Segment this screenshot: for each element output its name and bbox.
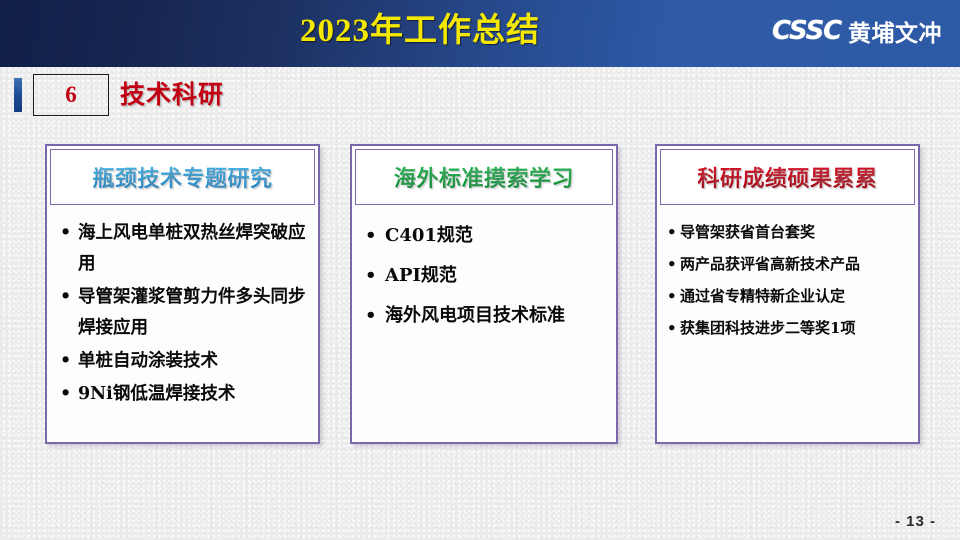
card-title-box: 瓶颈技术专题研究 [50, 149, 315, 205]
content-card-row: 瓶颈技术专题研究 海上风电单桩双热丝焊突破应用 导管架灌浆管剪力件多头同步焊接应… [0, 144, 960, 454]
content-card-overseas-standards: 海外标准摸索学习 C401规范 API规范 海外风电项目技术标准 [350, 144, 618, 444]
section-accent-bar [14, 78, 22, 112]
card-title: 科研成绩硕果累累 [697, 161, 877, 193]
list-item: 两产品获评省高新技术产品 [667, 250, 909, 279]
list-item: 9Ni钢低温焊接技术 [60, 379, 309, 410]
list-item: 通过省专精特新企业认定 [667, 282, 909, 311]
cssc-logo: CSSC 黄埔文冲 [772, 14, 942, 48]
cssc-wordmark: CSSC [772, 16, 841, 46]
bullet-list: 导管架获省首台套奖 两产品获评省高新技术产品 通过省专精特新企业认定 获集团科技… [667, 218, 909, 343]
cssc-chinese-name: 黄埔文冲 [848, 14, 942, 48]
list-item: API规范 [365, 258, 607, 294]
page-number: - 13 - [895, 513, 936, 530]
list-item: 导管架获省首台套奖 [667, 218, 909, 247]
card-title: 瓶颈技术专题研究 [92, 161, 272, 193]
list-item: C401规范 [365, 218, 607, 254]
section-header: 6 技术科研 [0, 70, 960, 122]
list-item: 海上风电单桩双热丝焊突破应用 [60, 218, 309, 280]
card-body: 导管架获省首台套奖 两产品获评省高新技术产品 通过省专精特新企业认定 获集团科技… [660, 208, 915, 439]
section-number: 6 [34, 75, 108, 114]
bullet-list: C401规范 API规范 海外风电项目技术标准 [365, 218, 607, 334]
section-title: 技术科研 [120, 74, 224, 116]
card-title-box: 科研成绩硕果累累 [660, 149, 915, 205]
content-card-bottleneck-research: 瓶颈技术专题研究 海上风电单桩双热丝焊突破应用 导管架灌浆管剪力件多头同步焊接应… [45, 144, 320, 444]
list-item: 获集团科技进步二等奖1项 [667, 314, 909, 343]
slide-canvas: 2023年工作总结 CSSC 黄埔文冲 6 技术科研 瓶颈技术专题研究 海上风电… [0, 0, 960, 540]
bullet-list: 海上风电单桩双热丝焊突破应用 导管架灌浆管剪力件多头同步焊接应用 单桩自动涂装技… [60, 218, 309, 410]
content-card-research-achievements: 科研成绩硕果累累 导管架获省首台套奖 两产品获评省高新技术产品 通过省专精特新企… [655, 144, 920, 444]
card-title: 海外标准摸索学习 [394, 161, 574, 193]
list-item: 导管架灌浆管剪力件多头同步焊接应用 [60, 282, 309, 344]
section-number-box: 6 [33, 74, 109, 116]
card-title-box: 海外标准摸索学习 [355, 149, 613, 205]
list-item: 海外风电项目技术标准 [365, 298, 607, 334]
slide-header-bar: 2023年工作总结 CSSC 黄埔文冲 [0, 0, 960, 67]
card-body: C401规范 API规范 海外风电项目技术标准 [355, 208, 613, 439]
card-body: 海上风电单桩双热丝焊突破应用 导管架灌浆管剪力件多头同步焊接应用 单桩自动涂装技… [50, 208, 315, 439]
list-item: 单桩自动涂装技术 [60, 346, 309, 377]
